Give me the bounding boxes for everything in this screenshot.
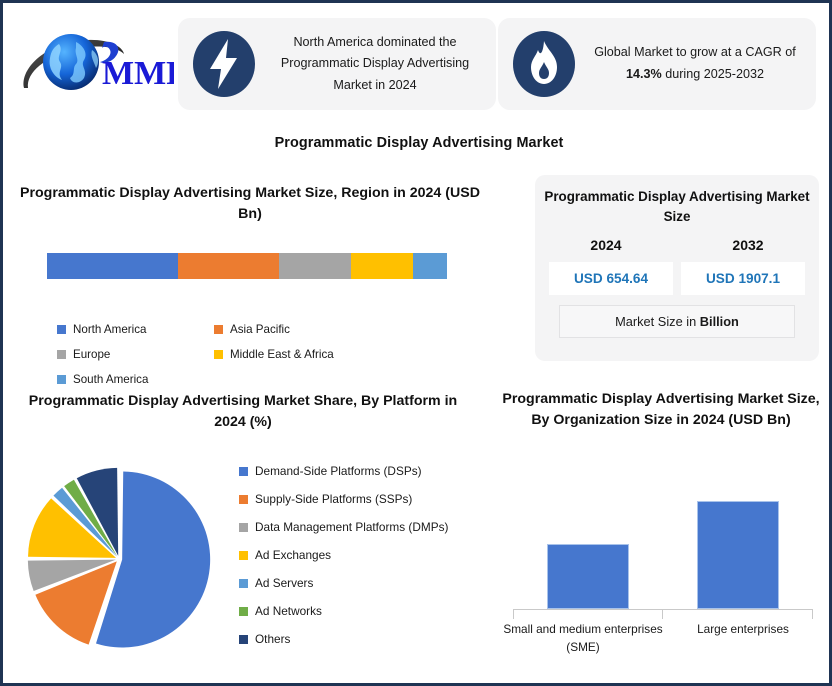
region-legend-item: Asia Pacific <box>214 317 371 342</box>
axis-tick <box>513 610 514 619</box>
logo-text: MMR <box>102 55 174 92</box>
legend-label: Asia Pacific <box>230 323 290 336</box>
market-size-card-title: Programmatic Display Advertising Market … <box>535 175 819 227</box>
organization-bar-panel: Programmatic Display Advertising Market … <box>495 389 827 681</box>
platform-pie-chart <box>19 459 229 659</box>
platform-pie-legend: Demand-Side Platforms (DSPs)Supply-Side … <box>239 457 489 653</box>
organization-bar-plot <box>513 485 813 609</box>
region-legend-item: South America <box>57 367 214 392</box>
axis-tick <box>812 610 813 619</box>
region-chart-title: Programmatic Display Advertising Market … <box>15 183 485 226</box>
legend-swatch <box>239 495 248 504</box>
axis-tick <box>662 610 663 619</box>
region-legend-item: North America <box>57 317 214 342</box>
organization-category-label: Large enterprises <box>663 621 823 656</box>
legend-swatch <box>57 325 66 334</box>
legend-swatch <box>239 551 248 560</box>
organization-bar <box>547 544 629 609</box>
platform-legend-item: Ad Servers <box>239 569 489 597</box>
platform-legend-item: Supply-Side Platforms (SSPs) <box>239 485 489 513</box>
year-2024-label: 2024 <box>535 237 677 253</box>
organization-category-label: Small and medium enterprises (SME) <box>503 621 663 656</box>
platform-pie-panel: Programmatic Display Advertising Market … <box>11 391 481 681</box>
legend-swatch <box>239 635 248 644</box>
market-size-values: USD 654.64 USD 1907.1 <box>535 262 819 295</box>
region-segment <box>351 253 413 279</box>
region-chart-panel: Programmatic Display Advertising Market … <box>15 183 515 373</box>
region-legend-item: Europe <box>57 342 214 367</box>
region-segment <box>47 253 178 279</box>
region-segment <box>279 253 351 279</box>
highlight-region-text: North America dominated the Programmatic… <box>260 32 496 97</box>
platform-pie-title: Programmatic Display Advertising Market … <box>23 391 463 434</box>
legend-label: Supply-Side Platforms (SSPs) <box>255 492 412 506</box>
region-legend-item: Middle East & Africa <box>214 342 371 367</box>
platform-legend-item: Demand-Side Platforms (DSPs) <box>239 457 489 485</box>
page-title: Programmatic Display Advertising Market <box>3 135 832 151</box>
legend-label: Ad Networks <box>255 604 322 618</box>
market-size-years: 2024 2032 <box>535 237 819 253</box>
unit-bold: Billion <box>700 314 739 329</box>
highlight-card-cagr: Global Market to grow at a CAGR of 14.3%… <box>498 18 816 110</box>
region-segment <box>413 253 447 279</box>
legend-swatch <box>57 375 66 384</box>
legend-swatch <box>239 523 248 532</box>
legend-swatch <box>214 325 223 334</box>
platform-legend-item: Ad Exchanges <box>239 541 489 569</box>
legend-label: Europe <box>73 348 110 361</box>
platform-legend-item: Data Management Platforms (DMPs) <box>239 513 489 541</box>
organization-bar-title: Programmatic Display Advertising Market … <box>501 389 821 432</box>
organization-bar <box>697 501 779 609</box>
platform-legend-item: Ad Networks <box>239 597 489 625</box>
organization-bar-labels: Small and medium enterprises (SME)Large … <box>503 621 823 656</box>
infographic-page: MMR North America dominated the Programm… <box>0 0 832 686</box>
legend-label: South America <box>73 373 148 386</box>
legend-label: Ad Exchanges <box>255 548 331 562</box>
lightning-bolt-icon <box>188 28 260 100</box>
market-size-unit: Market Size in Billion <box>559 305 795 338</box>
legend-swatch <box>239 467 248 476</box>
market-size-card: Programmatic Display Advertising Market … <box>535 175 819 361</box>
value-2032: USD 1907.1 <box>681 262 805 295</box>
unit-pre: Market Size in <box>615 314 700 329</box>
legend-label: Middle East & Africa <box>230 348 334 361</box>
legend-label: Demand-Side Platforms (DSPs) <box>255 464 422 478</box>
legend-label: Ad Servers <box>255 576 313 590</box>
legend-label: North America <box>73 323 146 336</box>
value-2024: USD 654.64 <box>549 262 673 295</box>
legend-swatch <box>57 350 66 359</box>
cagr-post: during 2025-2032 <box>662 67 764 81</box>
highlight-card-region: North America dominated the Programmatic… <box>178 18 496 110</box>
region-segment <box>178 253 279 279</box>
legend-swatch <box>214 350 223 359</box>
organization-bar-axis <box>513 609 813 619</box>
highlight-cagr-text: Global Market to grow at a CAGR of 14.3%… <box>580 42 816 85</box>
flame-icon <box>508 28 580 100</box>
legend-swatch <box>239 607 248 616</box>
mmr-logo: MMR <box>18 22 174 108</box>
header-band: MMR North America dominated the Programm… <box>6 6 832 116</box>
region-stacked-bar <box>47 253 447 279</box>
cagr-pre: Global Market to grow at a CAGR of <box>594 45 796 59</box>
platform-legend-item: Others <box>239 625 489 653</box>
cagr-value: 14.3% <box>626 67 662 81</box>
legend-swatch <box>239 579 248 588</box>
region-legend: North AmericaAsia PacificEuropeMiddle Ea… <box>57 317 487 392</box>
legend-label: Data Management Platforms (DMPs) <box>255 520 448 534</box>
year-2032-label: 2032 <box>677 237 819 253</box>
legend-label: Others <box>255 632 290 646</box>
